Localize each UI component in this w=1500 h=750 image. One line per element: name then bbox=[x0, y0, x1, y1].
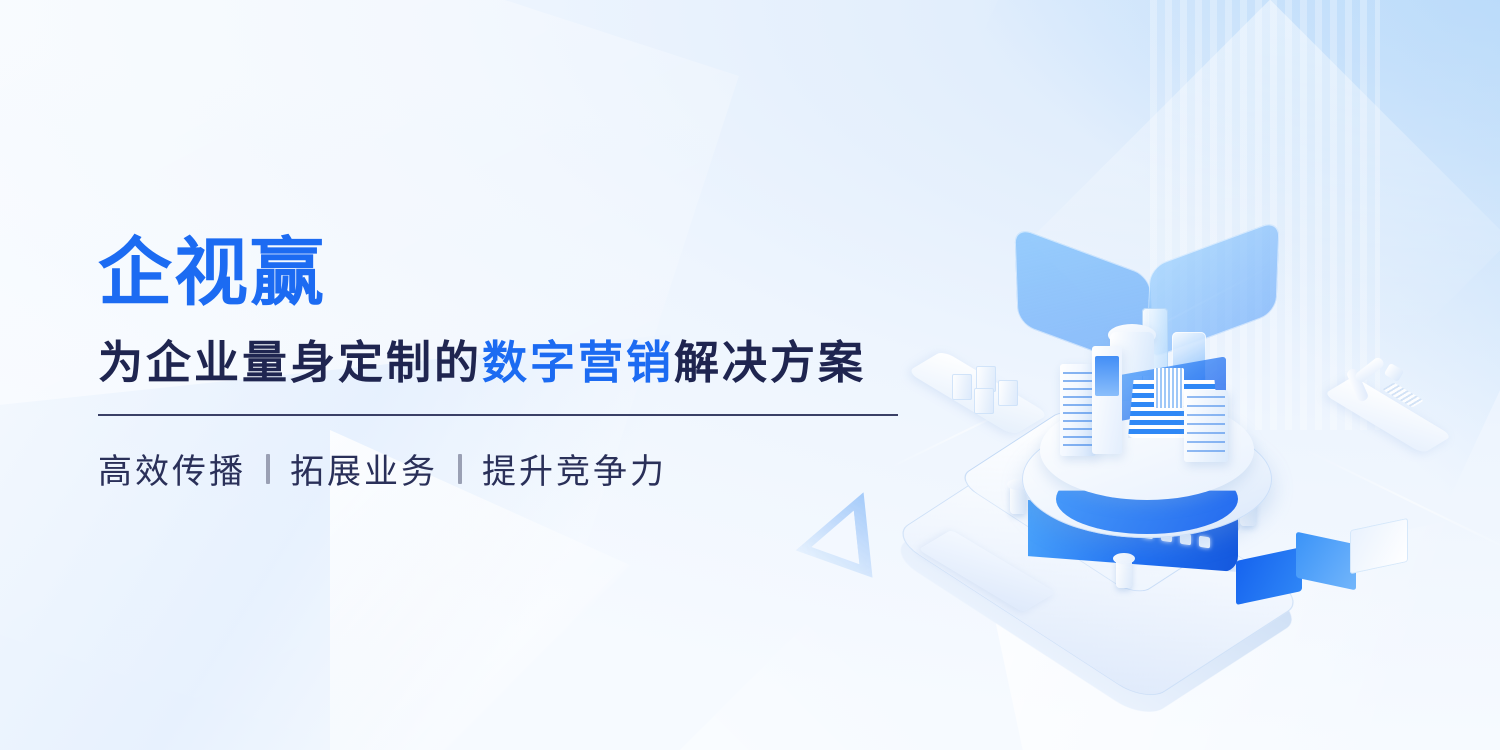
mini-platform-icon bbox=[918, 358, 1038, 428]
wavy-ribbon bbox=[1230, 510, 1420, 620]
headline-trail: 解决方案 bbox=[674, 337, 866, 388]
tagline-item-2: 拓展业务 bbox=[290, 444, 438, 493]
finned-unit bbox=[1154, 368, 1184, 408]
tagline-item-3: 提升竞争力 bbox=[482, 444, 667, 493]
tagline-separator-1 bbox=[266, 454, 270, 484]
tagline: 高效传播 拓展业务 提升竞争力 bbox=[98, 444, 938, 493]
headline-highlight: 数字营销 bbox=[482, 337, 674, 388]
building-a bbox=[1060, 364, 1096, 456]
tagline-item-1: 高效传播 bbox=[98, 444, 246, 493]
building-c bbox=[1184, 390, 1228, 462]
marketing-banner: 企视赢 为企业量身定制的数字营销解决方案 高效传播 拓展业务 提升竞争力 bbox=[0, 0, 1500, 750]
headline-lead: 为企业量身定制的 bbox=[98, 337, 482, 388]
hero-illustration bbox=[900, 210, 1460, 680]
divider-rule bbox=[98, 414, 898, 416]
copy-block: 企视赢 为企业量身定制的数字营销解决方案 高效传播 拓展业务 提升竞争力 bbox=[98, 236, 938, 493]
brand-logo-text: 企视赢 bbox=[98, 236, 938, 310]
building-b bbox=[1092, 346, 1122, 454]
tagline-separator-2 bbox=[458, 454, 462, 484]
robot-arm-icon bbox=[1330, 350, 1460, 450]
city-buildings bbox=[1050, 306, 1260, 486]
glass-triangle-icon bbox=[791, 491, 879, 593]
headline: 为企业量身定制的数字营销解决方案 bbox=[98, 338, 938, 388]
